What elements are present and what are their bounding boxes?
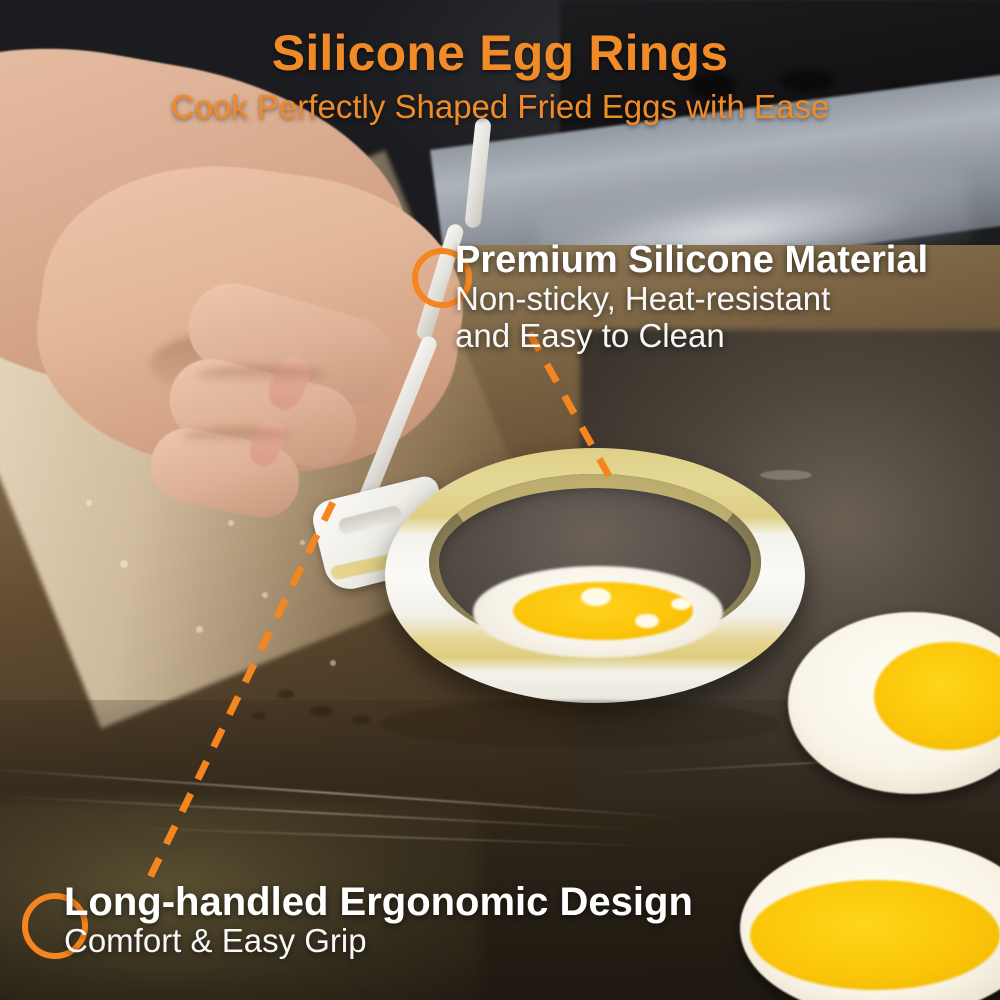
- feature-subtext-line-1: Non-sticky, Heat-resistant: [455, 281, 928, 318]
- page-title: Silicone Egg Rings: [0, 24, 1000, 82]
- finger-crease: [182, 428, 292, 444]
- feature-subtext-line-2: and Easy to Clean: [455, 318, 928, 355]
- fried-egg: [740, 838, 1000, 1000]
- griddle-grease-spot: [278, 690, 294, 699]
- yolk-highlight: [581, 588, 611, 606]
- ring-shadow: [380, 700, 780, 748]
- griddle-grease-spot: [252, 712, 266, 720]
- product-photo-background: [0, 0, 1000, 1000]
- feature-premium-silicone-material: Premium Silicone Material Non-sticky, He…: [455, 241, 928, 355]
- griddle-bubble: [196, 626, 203, 633]
- yolk-highlight: [671, 598, 691, 610]
- griddle-bubble: [330, 660, 336, 666]
- griddle-bubble: [262, 592, 268, 598]
- feature-heading: Premium Silicone Material: [455, 241, 928, 281]
- griddle-bubble: [300, 540, 305, 545]
- product-infographic: Silicone Egg Rings Cook Perfectly Shaped…: [0, 0, 1000, 1000]
- yolk-highlight: [635, 614, 659, 628]
- feature-long-handled-ergonomic-design: Long-handled Ergonomic Design Comfort & …: [64, 881, 693, 960]
- feature-subtext-line-1: Comfort & Easy Grip: [64, 923, 693, 960]
- page-subtitle: Cook Perfectly Shaped Fried Eggs with Ea…: [0, 88, 1000, 126]
- silicone-egg-ring: [385, 448, 805, 703]
- griddle-bubble: [120, 560, 128, 568]
- griddle-grease-spot: [310, 706, 332, 716]
- feature-heading: Long-handled Ergonomic Design: [64, 881, 693, 923]
- egg-yolk: [750, 880, 1000, 990]
- griddle-bubble: [86, 500, 92, 506]
- finger-crease: [196, 366, 326, 384]
- griddle-bubble: [228, 520, 234, 526]
- fried-egg: [788, 612, 1000, 794]
- griddle-grease-spot: [352, 716, 370, 724]
